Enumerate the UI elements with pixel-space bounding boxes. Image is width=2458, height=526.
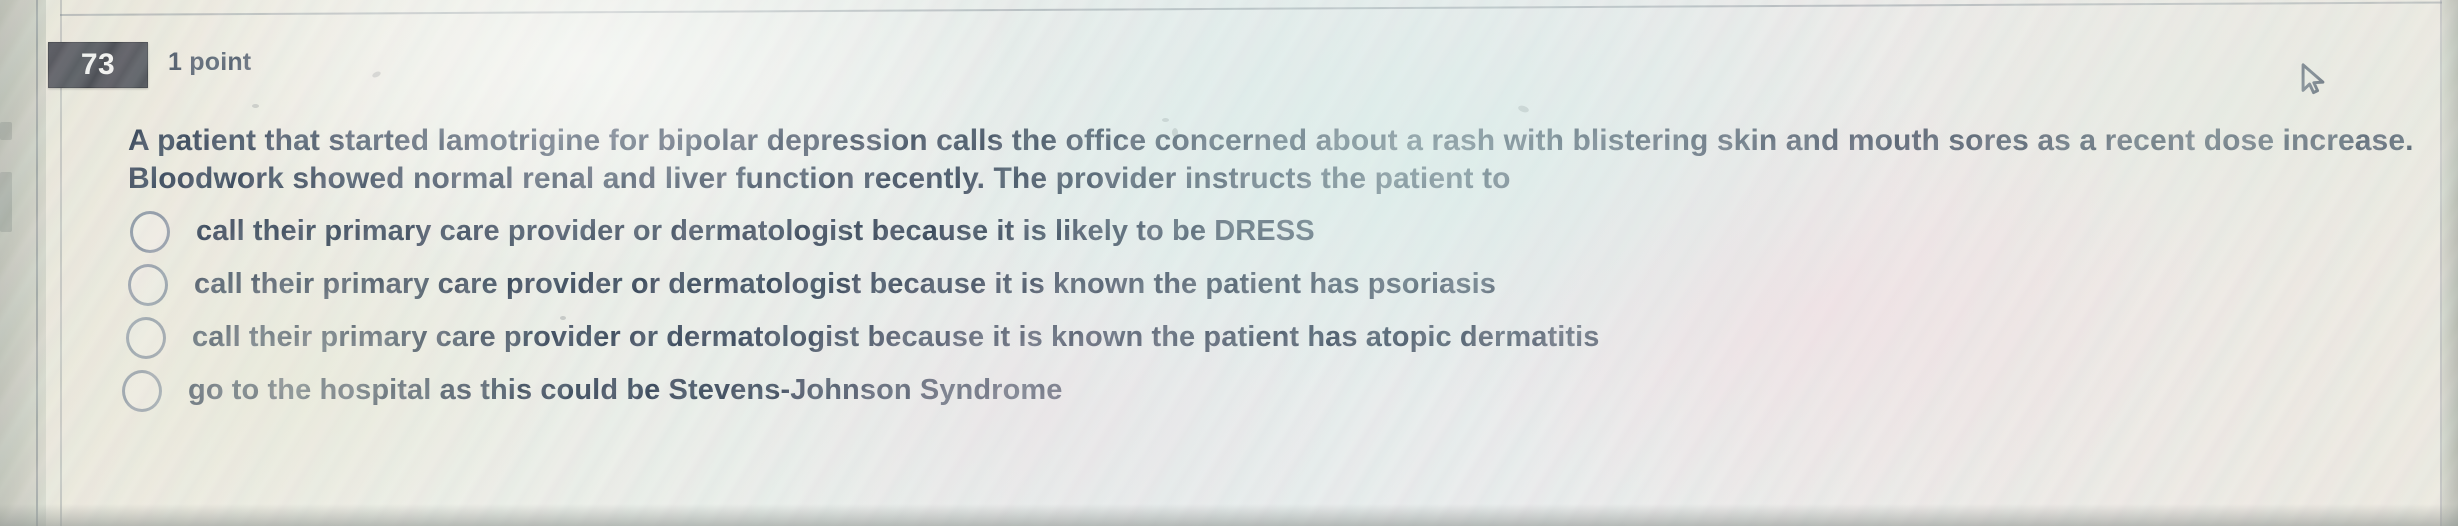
bottom-shadow-band [0,504,2458,526]
answer-options-list: call their primary care provider or derm… [130,205,2330,417]
answer-option-3[interactable]: call their primary care provider or derm… [126,311,2330,364]
answer-option-label: call their primary care provider or derm… [196,215,1315,248]
question-number-badge: 73 [48,42,148,88]
answer-option-label: call their primary care provider or derm… [194,268,1496,301]
radio-button-icon[interactable] [126,317,166,359]
answer-option-label: go to the hospital as this could be Stev… [188,374,1063,407]
answer-option-2[interactable]: call their primary care provider or derm… [128,258,2330,311]
radio-button-icon[interactable] [128,264,168,306]
answer-option-1[interactable]: call their primary care provider or derm… [130,205,2330,258]
question-points-label: 1 point [168,48,251,77]
quiz-question-card: 73 1 point A patient that started lamotr… [0,0,2458,526]
radio-button-icon[interactable] [130,211,170,253]
photographed-screen: 73 1 point A patient that started lamotr… [0,0,2458,526]
radio-button-icon[interactable] [122,370,162,412]
answer-option-4[interactable]: go to the hospital as this could be Stev… [122,364,2330,417]
mouse-pointer-icon [2296,62,2330,96]
answer-option-label: call their primary care provider or derm… [192,321,1600,354]
question-stem-text: A patient that started lamotrigine for b… [128,122,2418,198]
